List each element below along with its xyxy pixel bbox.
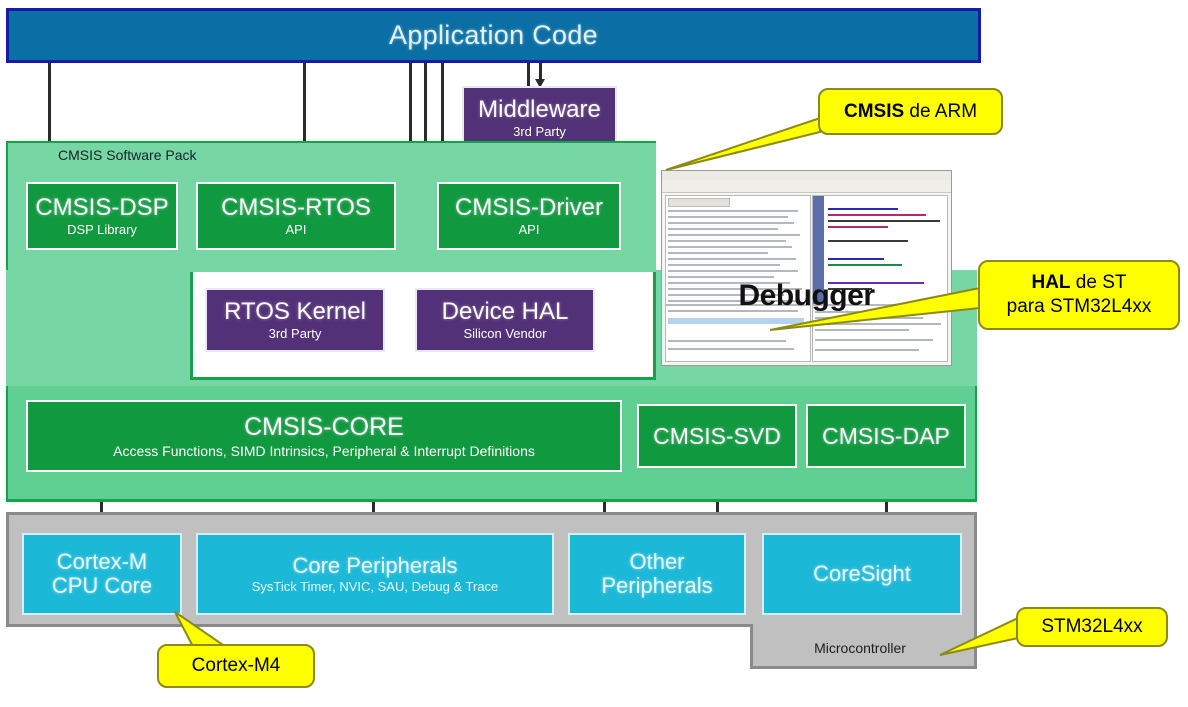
cmsis-dsp-subtitle: DSP Library [67,223,137,237]
core-peripherals-title: Core Peripherals [292,554,457,578]
debugger-breakpoints-panel [665,305,811,362]
rtos-kernel-title: RTOS Kernel [224,299,366,324]
callout-hal-line1: HAL de ST [1031,271,1126,295]
cmsis-dsp-block[interactable]: CMSIS-DSP DSP Library [26,182,178,250]
callout-stm32-text: STM32L4xx [1041,615,1142,639]
callout-cmsis[interactable]: CMSIS de ARM [818,88,1003,135]
microcontroller-label: Microcontroller [760,638,960,658]
callout-cmsis-text: CMSIS de ARM [844,100,977,124]
callout-cmsis-bold: CMSIS [844,101,904,122]
callout-stm32[interactable]: STM32L4xx [1016,607,1168,647]
cmsis-rtos-subtitle: API [286,223,307,237]
rtos-kernel-block[interactable]: RTOS Kernel 3rd Party [205,288,385,352]
cmsis-core-title: CMSIS-CORE [244,414,404,440]
cmsis-core-subtitle: Access Functions, SIMD Intrinsics, Perip… [113,444,535,459]
cmsis-rtos-title: CMSIS-RTOS [221,195,371,220]
connector-app-to-middleware [539,63,542,80]
callout-cortex-m4-text: Cortex-M4 [192,654,281,678]
other-peripherals-block[interactable]: Other Peripherals [568,533,746,615]
core-peripherals-subtitle: SysTick Timer, NVIC, SAU, Debug & Trace [252,580,499,594]
cmsis-driver-block[interactable]: CMSIS-Driver API [437,182,621,250]
cortex-m-cpu-core-block[interactable]: Cortex-M CPU Core [22,533,182,615]
cmsis-dap-block[interactable]: CMSIS-DAP [806,404,966,468]
application-code-block[interactable]: Application Code [6,8,981,63]
cmsis-driver-subtitle: API [519,223,540,237]
debugger-console-panel [812,305,948,362]
device-hal-title: Device HAL [442,299,569,324]
cmsis-driver-title: CMSIS-Driver [455,195,603,220]
cortex-m-title2: CPU Core [52,574,152,598]
application-code-label: Application Code [389,20,598,51]
cmsis-core-block[interactable]: CMSIS-CORE Access Functions, SIMD Intrin… [26,400,622,472]
callout-hal[interactable]: HAL de ST para STM32L4xx [978,260,1180,330]
debugger-panel-tabs [668,198,730,207]
rtos-kernel-subtitle: 3rd Party [269,327,322,341]
device-hal-block[interactable]: Device HAL Silicon Vendor [415,288,595,352]
callout-hal-line2: para STM32L4xx [1007,295,1152,319]
cmsis-rtos-block[interactable]: CMSIS-RTOS API [196,182,396,250]
cmsis-software-pack-label: CMSIS Software Pack [58,144,278,166]
debugger-watermark: Debugger [662,279,951,313]
middleware-title: Middleware [478,97,601,122]
callout-hal-bold: HAL [1031,272,1070,293]
debugger-toolbar [662,180,951,193]
coresight-title: CoreSight [813,562,911,586]
coresight-block[interactable]: CoreSight [762,533,962,615]
cmsis-svd-block[interactable]: CMSIS-SVD [637,404,797,468]
callout-cortex-m4[interactable]: Cortex-M4 [157,644,315,688]
core-peripherals-block[interactable]: Core Peripherals SysTick Timer, NVIC, SA… [196,533,554,615]
diagram-canvas: Application Code Middleware 3rd Party CM… [0,0,1188,707]
other-peripherals-title2: Peripherals [601,574,712,598]
cortex-m-title: Cortex-M [57,550,147,574]
callout-cmsis-rest: de ARM [904,101,977,122]
cmsis-svd-title: CMSIS-SVD [653,424,781,448]
device-hal-subtitle: Silicon Vendor [463,327,546,341]
debugger-screenshot[interactable]: Debugger [661,170,952,366]
other-peripherals-title: Other [629,550,684,574]
callout-hal-rest: de ST [1071,272,1127,293]
middleware-subtitle: 3rd Party [513,125,566,139]
cmsis-dsp-title: CMSIS-DSP [35,195,168,220]
cmsis-dap-title: CMSIS-DAP [822,424,950,448]
